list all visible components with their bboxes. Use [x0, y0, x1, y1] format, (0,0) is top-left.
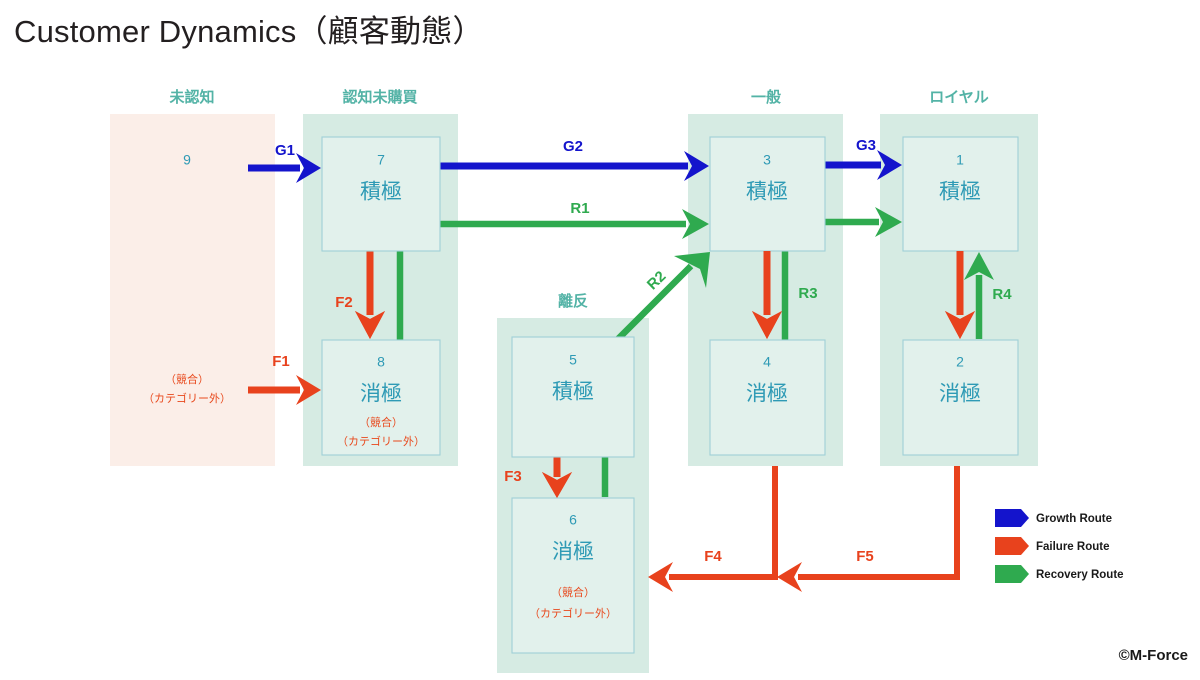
- legend-swatch-recovery-icon: [995, 565, 1029, 583]
- edge-label-F1: F1: [272, 353, 290, 370]
- node-2[interactable]: 2 消極: [903, 340, 1018, 455]
- node-1-number: 1: [956, 152, 964, 168]
- node-6-sub1: （競合）: [551, 585, 595, 599]
- customer-dynamics-diagram: 未認知 認知未購買 離反 一般 ロイヤル 9 （競合） （カテゴリー外） G1 …: [0, 0, 1200, 680]
- edge-label-R4: R4: [992, 286, 1012, 303]
- node-6[interactable]: 6 消極 （競合） （カテゴリー外）: [512, 498, 634, 653]
- node-8-label: 消極: [360, 383, 402, 406]
- column-header-unaware: 未認知: [168, 88, 214, 106]
- edge-label-F4: F4: [704, 548, 722, 565]
- node-7-label: 積極: [360, 181, 402, 204]
- edge-label-R3: R3: [798, 285, 817, 302]
- node-5[interactable]: 5 積極: [512, 337, 634, 457]
- column-header-aware-nobuy: 認知未購買: [342, 88, 417, 106]
- legend-label-recovery: Recovery Route: [1036, 569, 1124, 581]
- node-6-label: 消極: [552, 541, 594, 564]
- edge-label-G1: G1: [275, 142, 295, 159]
- edge-G2: G2: [440, 138, 709, 181]
- edge-label-G2: G2: [563, 138, 583, 155]
- node-4-number: 4: [763, 354, 771, 370]
- node-8-sub2: （カテゴリー外）: [337, 434, 425, 448]
- legend-item-growth[interactable]: Growth Route: [995, 509, 1112, 527]
- node-2-number: 2: [956, 354, 964, 370]
- node-1-label: 積極: [939, 181, 981, 204]
- legend-swatch-failure-icon: [995, 537, 1029, 555]
- node-4-label: 消極: [746, 383, 788, 406]
- edge-label-G3: G3: [856, 137, 876, 154]
- node-6-number: 6: [569, 512, 577, 528]
- node-3[interactable]: 3 積極: [710, 137, 825, 251]
- edge-label-F2: F2: [335, 294, 353, 311]
- node-2-label: 消極: [939, 383, 981, 406]
- unaware-sub-line2: （カテゴリー外）: [143, 391, 231, 405]
- column-header-churned: 離反: [558, 292, 588, 310]
- node-3-label: 積極: [746, 181, 788, 204]
- node-7-number: 7: [377, 152, 385, 168]
- legend-item-recovery[interactable]: Recovery Route: [995, 565, 1124, 583]
- node-1[interactable]: 1 積極: [903, 137, 1018, 251]
- node-8[interactable]: 8 消極 （競合） （カテゴリー外）: [322, 340, 440, 455]
- node-3-number: 3: [763, 152, 771, 168]
- edge-label-R1: R1: [570, 200, 589, 217]
- unaware-sub-line1: （競合）: [165, 372, 209, 386]
- legend-swatch-growth-icon: [995, 509, 1029, 527]
- node-8-number: 8: [377, 354, 385, 370]
- legend-label-growth: Growth Route: [1036, 513, 1112, 525]
- edge-label-F5: F5: [856, 548, 874, 565]
- node-4[interactable]: 4 消極: [710, 340, 825, 455]
- node-6-sub2: （カテゴリー外）: [529, 606, 617, 620]
- edge-label-F3: F3: [504, 468, 522, 485]
- legend: Growth Route Failure Route Recovery Rout…: [995, 509, 1124, 583]
- legend-item-failure[interactable]: Failure Route: [995, 537, 1109, 555]
- node-5-number: 5: [569, 352, 577, 368]
- unaware-number: 9: [183, 152, 191, 168]
- column-headers: 未認知 認知未購買 離反 一般 ロイヤル: [168, 88, 988, 310]
- legend-label-failure: Failure Route: [1036, 541, 1109, 553]
- column-header-loyal: ロイヤル: [929, 89, 989, 106]
- copyright-notice: ©M-Force: [1119, 647, 1188, 664]
- column-header-general: 一般: [751, 88, 781, 106]
- node-8-sub1: （競合）: [359, 415, 403, 429]
- edge-F4: F4: [648, 466, 775, 592]
- node-7[interactable]: 7 積極: [322, 137, 440, 251]
- node-5-label: 積極: [552, 381, 594, 404]
- edge-F5: F5: [777, 466, 957, 592]
